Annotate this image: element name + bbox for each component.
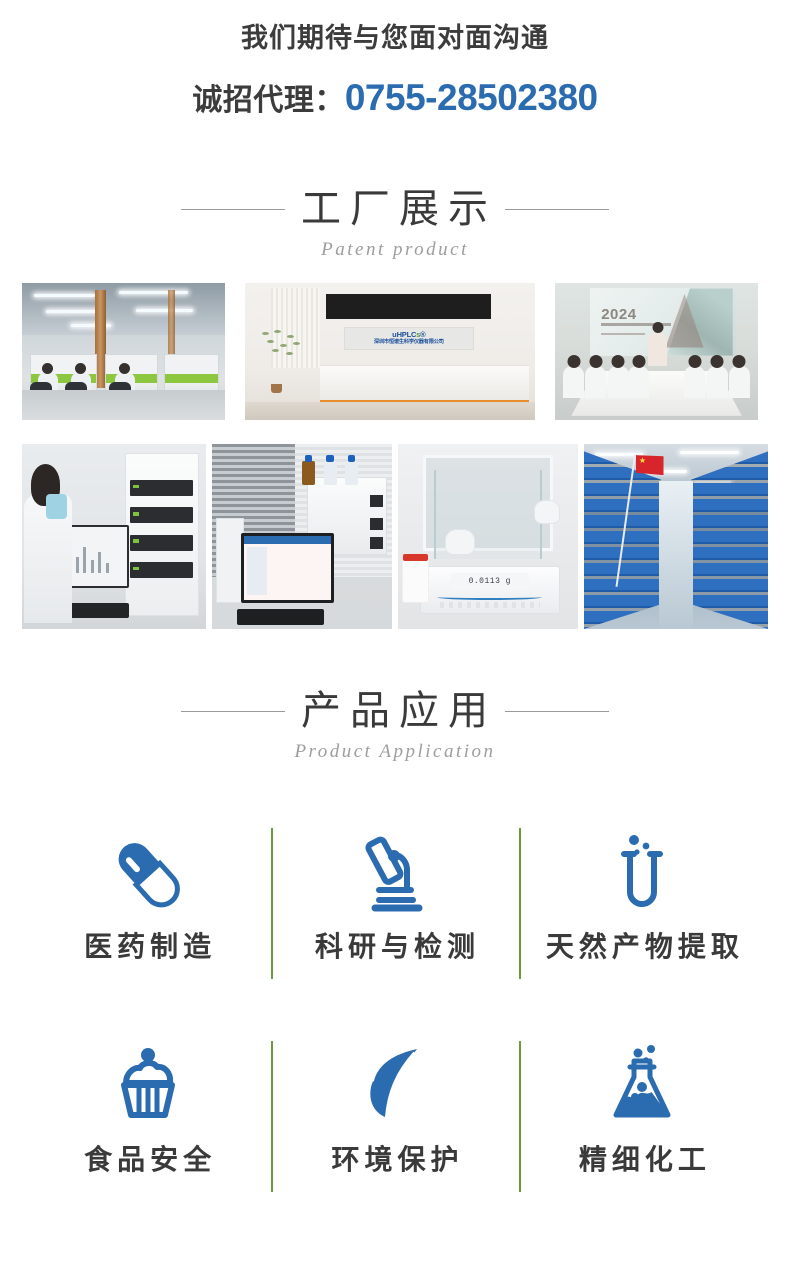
ceiling-lamp [34, 294, 95, 297]
company-sign-cn: 深圳市恒谱生科学仪器有限公司 [374, 340, 444, 345]
software-sidebar [247, 547, 266, 595]
reception-lobby-photo[interactable]: uHPLCs® 深圳市恒谱生科学仪器有限公司 [245, 283, 535, 420]
software-titlebar [244, 536, 332, 544]
analytical-balance-photo[interactable]: 0.0113 g [398, 444, 578, 629]
application-item-fine-chemicals[interactable]: 精细化工 [519, 1035, 766, 1200]
title-rule-right [505, 209, 609, 210]
phone-number[interactable]: 0755-28502380 [345, 77, 598, 118]
warehouse-photo[interactable] [584, 444, 768, 629]
application-section-title: 产品应用 Product Application [0, 690, 790, 763]
application-label: 天然产物提取 [541, 932, 744, 963]
attendee [628, 366, 649, 398]
application-item-pharma[interactable]: 医药制造 [24, 822, 271, 987]
potted-plant [257, 330, 315, 371]
ceiling-light [680, 451, 739, 454]
computer-monitor [241, 533, 335, 603]
factory-section-title: 工厂展示 Patent product [0, 188, 790, 261]
hplc-module [130, 480, 193, 496]
gloved-hand [445, 529, 475, 555]
sample-jar [402, 559, 429, 603]
factory-photo-grid: uHPLCs® 深圳市恒谱生科学仪器有限公司 [0, 283, 790, 629]
factory-photo-row-2: 0.0113 g [0, 444, 790, 629]
application-title-cn: 产品应用 [285, 690, 505, 732]
attendee [608, 366, 629, 398]
leaf-icon [349, 1035, 441, 1139]
office-workstations-photo[interactable] [22, 283, 225, 420]
company-sign-en: uHPLCs® [392, 331, 425, 339]
attendee [563, 366, 584, 398]
factory-title-row: 工厂展示 [0, 188, 790, 230]
plant-pot [271, 384, 282, 393]
keyboard [237, 609, 323, 626]
face-mask [46, 494, 67, 519]
attendee [585, 366, 606, 398]
balance-display: 0.0113 g [451, 573, 528, 591]
cupcake-icon [102, 1035, 194, 1139]
floor [22, 390, 225, 420]
application-label: 环境保护 [326, 1145, 463, 1176]
factory-title-cn: 工厂展示 [285, 188, 505, 230]
title-rule-left [181, 711, 285, 712]
hplc-workstation-photo[interactable] [212, 444, 392, 629]
hplc-instrument-stack [125, 453, 199, 616]
hplc-module [130, 507, 193, 523]
agent-recruit-label: 诚招代理： [192, 84, 345, 117]
hplc-module [130, 562, 193, 578]
application-item-research[interactable]: 科研与检测 [271, 822, 518, 987]
factory-title-en: Patent product [0, 239, 790, 261]
storage-rack-right [691, 451, 768, 629]
title-rule-left [181, 209, 285, 210]
china-flag [636, 455, 664, 475]
company-sign: uHPLCs® 深圳市恒谱生科学仪器有限公司 [344, 327, 475, 350]
microscope-icon [349, 822, 441, 926]
solvent-bottle [345, 461, 358, 485]
test-tube-icon [596, 822, 688, 926]
application-label: 精细化工 [574, 1145, 711, 1176]
balance-body: 0.0113 g [420, 566, 560, 614]
application-row-2: 食品安全 环境保护 [24, 1035, 766, 1200]
capsule-icon [102, 822, 194, 926]
attendee [707, 366, 728, 398]
ceiling-lamp [119, 291, 188, 294]
hplc-module [130, 535, 193, 551]
marketing-page: 我们期待与您面对面沟通 诚招代理：0755-28502380 工厂展示 Pate… [0, 0, 790, 1272]
floor [245, 402, 535, 420]
application-item-food-safety[interactable]: 食品安全 [24, 1035, 271, 1200]
aisle-floor [659, 481, 692, 629]
lab-technician [24, 494, 72, 624]
computer-monitor [62, 525, 128, 588]
application-item-extraction[interactable]: 天然产物提取 [519, 822, 766, 987]
application-title-row: 产品应用 [0, 690, 790, 732]
header-tagline: 我们期待与您面对面沟通 [0, 22, 790, 54]
application-label: 医药制造 [79, 932, 216, 963]
meeting-room-photo[interactable]: 2024 [555, 283, 758, 420]
application-label: 食品安全 [79, 1145, 216, 1176]
solvent-bottle [302, 461, 315, 485]
ceiling-lamp [136, 309, 193, 312]
attendee [729, 366, 750, 398]
desk-accent-line [320, 400, 529, 402]
reception-desk [320, 365, 529, 401]
ceiling-lamp [46, 310, 99, 313]
page-header: 我们期待与您面对面沟通 诚招代理：0755-28502380 [0, 0, 790, 121]
balance-keypad[interactable] [440, 602, 540, 608]
hplc-operator-photo[interactable] [22, 444, 206, 629]
flask-icon [596, 1035, 688, 1139]
ceiling-beam [326, 294, 491, 319]
title-rule-right [505, 711, 609, 712]
presenter [648, 332, 667, 366]
slide-year: 2024 [601, 306, 636, 323]
application-label: 科研与检测 [310, 932, 480, 963]
factory-photo-row-1: uHPLCs® 深圳市恒谱生科学仪器有限公司 [0, 283, 790, 420]
agent-recruit-line: 诚招代理：0755-28502380 [0, 76, 790, 120]
slide-subline-bar [601, 333, 645, 335]
application-title-en: Product Application [0, 741, 790, 763]
application-row-1: 医药制造 科研与检测 [24, 822, 766, 987]
attendee [684, 366, 705, 398]
gloved-hand [534, 500, 560, 524]
solvent-bottle [324, 461, 337, 485]
brand-swoosh [437, 595, 542, 601]
application-grid: 医药制造 科研与检测 [0, 822, 790, 1200]
application-item-environment[interactable]: 环境保护 [271, 1035, 518, 1200]
